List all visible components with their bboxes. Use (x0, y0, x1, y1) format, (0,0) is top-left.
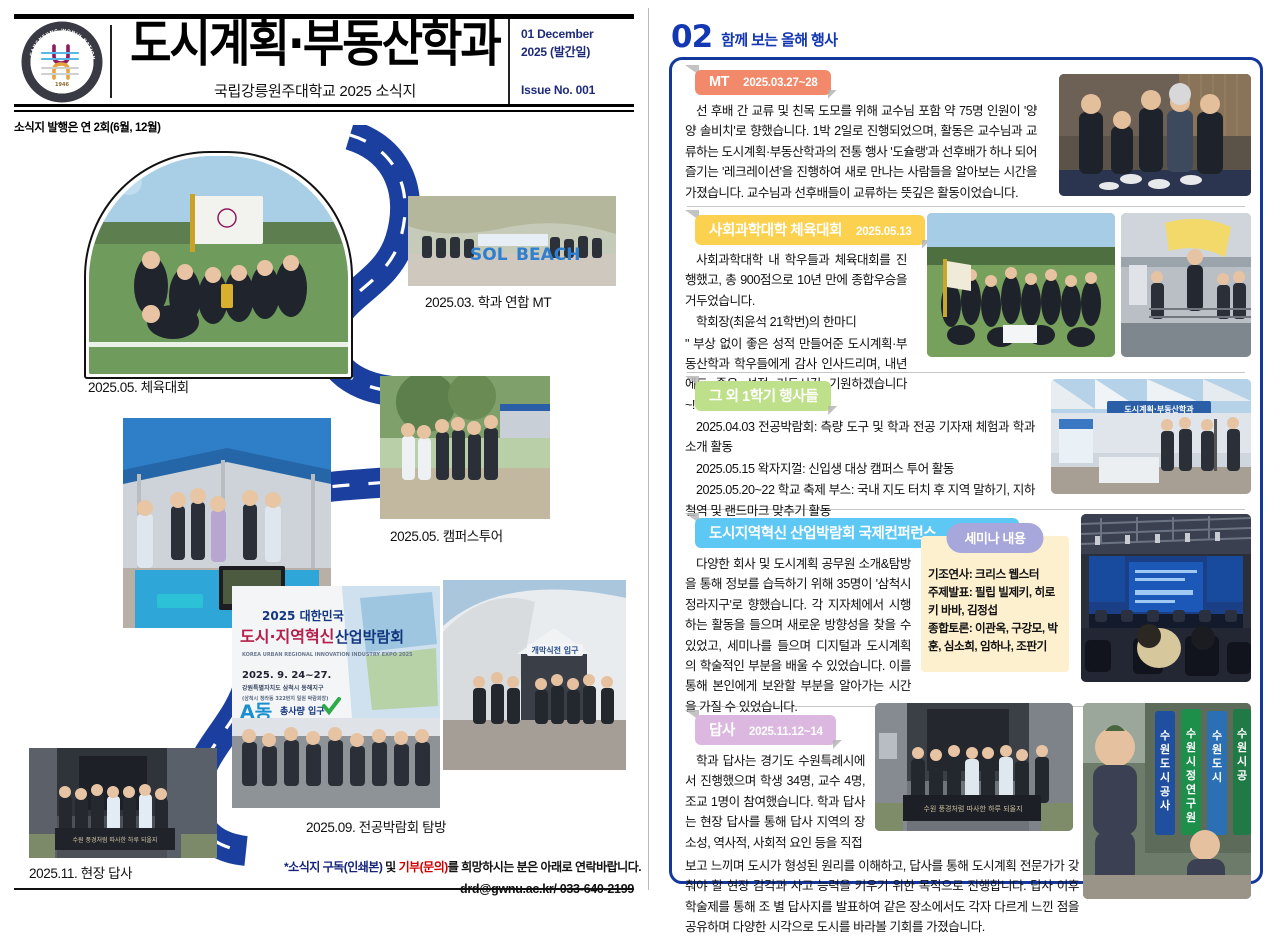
masthead: GANGNEUNG-WONJU NATIONAL UNIVERSITY 국립강릉… (14, 19, 634, 104)
svg-text:구: 구 (1186, 797, 1196, 810)
section-number: 02 (671, 22, 712, 53)
emblem-icon: GANGNEUNG-WONJU NATIONAL UNIVERSITY 국립강릉… (20, 20, 104, 104)
photo-field-trip: 수원 풍경처럼 따사한 하루 되올지 (29, 748, 217, 858)
photo-expo-booth: 도시계획·부동산학과 (1051, 379, 1251, 494)
svg-text:2025. 9. 24~27.: 2025. 9. 24~27. (242, 670, 331, 681)
svg-text:공: 공 (1160, 785, 1170, 798)
section-title: 함께 보는 올해 행사 (721, 29, 837, 50)
svg-text:시: 시 (1186, 755, 1196, 768)
svg-text:2025 대한민국: 2025 대한민국 (262, 608, 344, 623)
body-sports-2: 학회장(최윤석 21학번)의 한마디 (685, 312, 907, 332)
masthead-left-rule (110, 25, 112, 98)
svg-text:원: 원 (1237, 740, 1247, 754)
footer-contact: *소식지 구독(인쇄본) 및 기부(문의)를 희망하시는 분은 아래로 연락바랍… (284, 858, 634, 896)
badge-label-conference: 도시지역혁신 산업박람회 국제컨퍼런스 (709, 522, 936, 543)
svg-text:사: 사 (1160, 798, 1171, 812)
caption-photo-sports-day: 2025.05. 체육대회 (88, 376, 189, 396)
svg-text:개막식전 입구: 개막식전 입구 (532, 645, 580, 655)
badge-label-mt: MT (709, 74, 729, 90)
svg-text:수: 수 (1212, 729, 1222, 742)
badge-date-sports: 2025.05.13 (856, 226, 912, 238)
masthead-center: 도시계획·부동산학과 국립강릉원주대학교 2025 소식지 (122, 19, 508, 104)
left-column: GANGNEUNG-WONJU NATIONAL UNIVERSITY 국립강릉… (0, 0, 648, 898)
badge-tail-icon (833, 740, 842, 749)
badge-etc-events: 그 외 1학기 행사들 (695, 381, 831, 411)
svg-text:정: 정 (1186, 768, 1196, 782)
photo-sports-group (927, 213, 1115, 357)
badge-label-sports: 사회과학대학 체육대회 (709, 219, 842, 240)
footer-contact-line1: *소식지 구독(인쇄본) 및 기부(문의)를 희망하시는 분은 아래로 연락바랍… (284, 858, 634, 875)
svg-text:수: 수 (1160, 729, 1170, 742)
photo-expo-banner: 2025 대한민국 도시·지역혁신 산업박람회 KOREA URBAN REGI… (232, 586, 440, 808)
body-etc-1: 2025.04.03 전공박람회: 측량 도구 및 학과 전공 기자재 체험과 … (685, 417, 1035, 458)
photo-fieldtrip-signs: 수원도시공사 수원시정연구원 수원도시 수원시공 (1083, 703, 1251, 899)
badge-date-mt: 2025.03.27~28 (743, 77, 817, 89)
caption-photo-field-trip: 2025.11. 현장 답사 (29, 862, 132, 882)
masthead-rule-bottom-thick (14, 104, 634, 107)
masthead-meta: 01 December 2025 (발간일) Issue No. 001 (508, 19, 634, 104)
seminar-line-keynote: 기조연사: 크리스 웹스터 (928, 566, 1062, 584)
svg-text:원: 원 (1186, 810, 1196, 824)
masthead-subtitle: 국립강릉원주대학교 2025 소식지 (214, 80, 416, 101)
footer-text-d: 및 (382, 860, 398, 874)
footer-text-e: 기부 (399, 860, 420, 874)
seminar-line-discussion: 종합토론: 이관옥, 구강모, 박훈, 심소희, 임하나, 조판기 (928, 620, 1062, 656)
svg-text:시: 시 (1237, 755, 1247, 768)
body-etc-2: 2025.05.15 왁자지껄: 신입생 대상 캠퍼스 투어 활동 (685, 459, 1035, 479)
badge-tail-icon (828, 406, 837, 415)
entry-etc-events: 그 외 1학기 행사들 2025.04.03 전공박람회: 측량 도구 및 학과… (685, 373, 1247, 509)
body-fieldtrip-1: 학과 답사는 경기도 수원특례시에서 진행했으며 학생 34명, 교수 4명, … (685, 751, 865, 853)
footer-rule (14, 888, 634, 890)
svg-text:도: 도 (1212, 757, 1222, 770)
svg-text:산업박람회: 산업박람회 (335, 628, 404, 646)
badge-tail-icon (828, 90, 837, 99)
events-card: MT 2025.03.27~28 선 후배 간 교류 및 친목 도모를 위해 교… (669, 57, 1263, 884)
svg-text:도시·지역혁신: 도시·지역혁신 (240, 627, 334, 646)
masthead-title: 도시계획·부동산학과 (130, 17, 500, 70)
publication-frequency-note: 소식지 발행은 연 2회(6월, 12월) (14, 119, 161, 135)
body-sports-1: 사회과학대학 내 학우들과 체육대회를 진행했고, 총 900점으로 10년 만… (685, 250, 907, 311)
photo-expo-tent: 개막식전 입구 (443, 580, 626, 770)
masthead-issue: Issue No. 001 (521, 83, 634, 97)
seminar-content: 기조연사: 크리스 웹스터 주제발표: 필립 빌제키, 히로키 바바, 김정섭 … (921, 536, 1069, 663)
footer-text-c: (인쇄본) (344, 860, 383, 874)
body-mt: 선 후배 간 교류 및 친목 도모를 위해 교수님 포함 약 75명 인원이 '… (685, 101, 1037, 203)
svg-text:도시계획·부동산학과: 도시계획·부동산학과 (1124, 404, 1194, 414)
caption-photo-expo: 2025.09. 전공박람회 탐방 (306, 816, 446, 836)
svg-text:도: 도 (1160, 757, 1170, 770)
svg-text:강원특별자치도 삼척시 동해지구: 강원특별자치도 삼척시 동해지구 (242, 684, 324, 692)
svg-text:수원 풍경처럼 따사한 하루 되올지: 수원 풍경처럼 따사한 하루 되올지 (73, 836, 158, 844)
photo-sports-flag (1121, 213, 1251, 357)
svg-text:수원 풍경처럼 따사한 하루 되올지: 수원 풍경처럼 따사한 하루 되올지 (923, 804, 1022, 813)
svg-text:연: 연 (1186, 782, 1196, 796)
svg-text:시: 시 (1212, 771, 1222, 784)
masthead-date-line2: 2025 (발간일) (521, 43, 634, 61)
badge-date-fieldtrip: 2025.11.12~14 (749, 726, 823, 738)
masthead-date-line1: 01 December (521, 25, 634, 43)
seminar-line-presentation: 주제발표: 필립 빌제키, 히로키 바바, 김정섭 (928, 584, 1062, 620)
svg-text:수: 수 (1237, 727, 1247, 740)
photo-conference-hall (1081, 514, 1251, 682)
svg-text:SOL: SOL (470, 245, 508, 265)
seminar-title: 세미나 내용 (946, 523, 1043, 553)
footer-text-b: 구독 (323, 860, 344, 874)
section-header: 02 함께 보는 올해 행사 (671, 22, 837, 53)
newsletter-page: GANGNEUNG-WONJU NATIONAL UNIVERSITY 국립강릉… (0, 0, 1274, 898)
badge-sports: 사회과학대학 체육대회 2025.05.13 (695, 215, 925, 245)
photo-sports-day (84, 151, 353, 379)
photo-campus-tour (380, 376, 550, 519)
right-column: 02 함께 보는 올해 행사 MT 2025.03.27~28 선 후배 간 교… (658, 0, 1274, 898)
photo-mt-group: SOLBEACH (408, 196, 616, 286)
footer-text-a: *소식지 (284, 860, 323, 874)
caption-photo-campus-tour: 2025.05. 캠퍼스투어 (390, 525, 503, 545)
footer-text-g: 를 희망하시는 분은 아래로 연락바랍니다. (448, 860, 641, 874)
badge-fieldtrip: 답사 2025.11.12~14 (695, 715, 836, 745)
footer-text-f: (문의) (420, 860, 448, 874)
svg-text:KOREA URBAN REGIONAL INNOVATIO: KOREA URBAN REGIONAL INNOVATION INDUSTRY… (242, 652, 413, 658)
svg-text:원: 원 (1212, 742, 1222, 756)
svg-text:총사량 입구: 총사량 입구 (280, 705, 325, 717)
entry-fieldtrip: 답사 2025.11.12~14 학과 답사는 경기도 수원특례시에서 진행했으… (685, 707, 1247, 911)
svg-text:BEACH: BEACH (516, 245, 580, 265)
badge-label-fieldtrip: 답사 (709, 719, 735, 740)
entry-sports: 사회과학대학 체육대회 2025.05.13 사회과학대학 내 학우들과 체육대… (685, 207, 1247, 372)
body-fieldtrip-2: 보고 느끼며 도시가 형성된 원리를 이해하고, 답사를 통해 도시계획 전문가… (685, 856, 1079, 938)
caption-photo-mt: 2025.03. 학과 연합 MT (425, 291, 551, 311)
photo-mt-dinner (1059, 74, 1251, 196)
badge-label-etc: 그 외 1학기 행사들 (709, 385, 818, 406)
column-divider (648, 8, 649, 890)
seminar-box: 세미나 내용 기조연사: 크리스 웹스터 주제발표: 필립 빌제키, 히로키 바… (921, 536, 1069, 672)
photo-fieldtrip-building: 수원 풍경처럼 따사한 하루 되올지 (875, 703, 1073, 831)
svg-text:원: 원 (1160, 742, 1170, 756)
svg-text:원: 원 (1186, 740, 1196, 754)
svg-text:수: 수 (1186, 727, 1196, 740)
entry-mt: MT 2025.03.27~28 선 후배 간 교류 및 친목 도모를 위해 교… (685, 70, 1247, 206)
body-conference: 다양한 회사 및 도시계획 공무원 소개&탐방을 통해 정보를 습득하기 위해 … (685, 554, 911, 717)
svg-text:시: 시 (1160, 771, 1170, 784)
masthead-rule-bottom-thin (14, 110, 634, 112)
badge-mt: MT 2025.03.27~28 (695, 70, 831, 95)
entry-conference: 도시지역혁신 산업박람회 국제컨퍼런스 2025.09.25 다양한 회사 및 … (685, 510, 1247, 706)
svg-text:공: 공 (1237, 769, 1247, 782)
emblem-year: 1946 (55, 82, 69, 88)
masthead-date: 01 December 2025 (발간일) (521, 25, 634, 61)
university-logo: GANGNEUNG-WONJU NATIONAL UNIVERSITY 국립강릉… (14, 19, 110, 104)
